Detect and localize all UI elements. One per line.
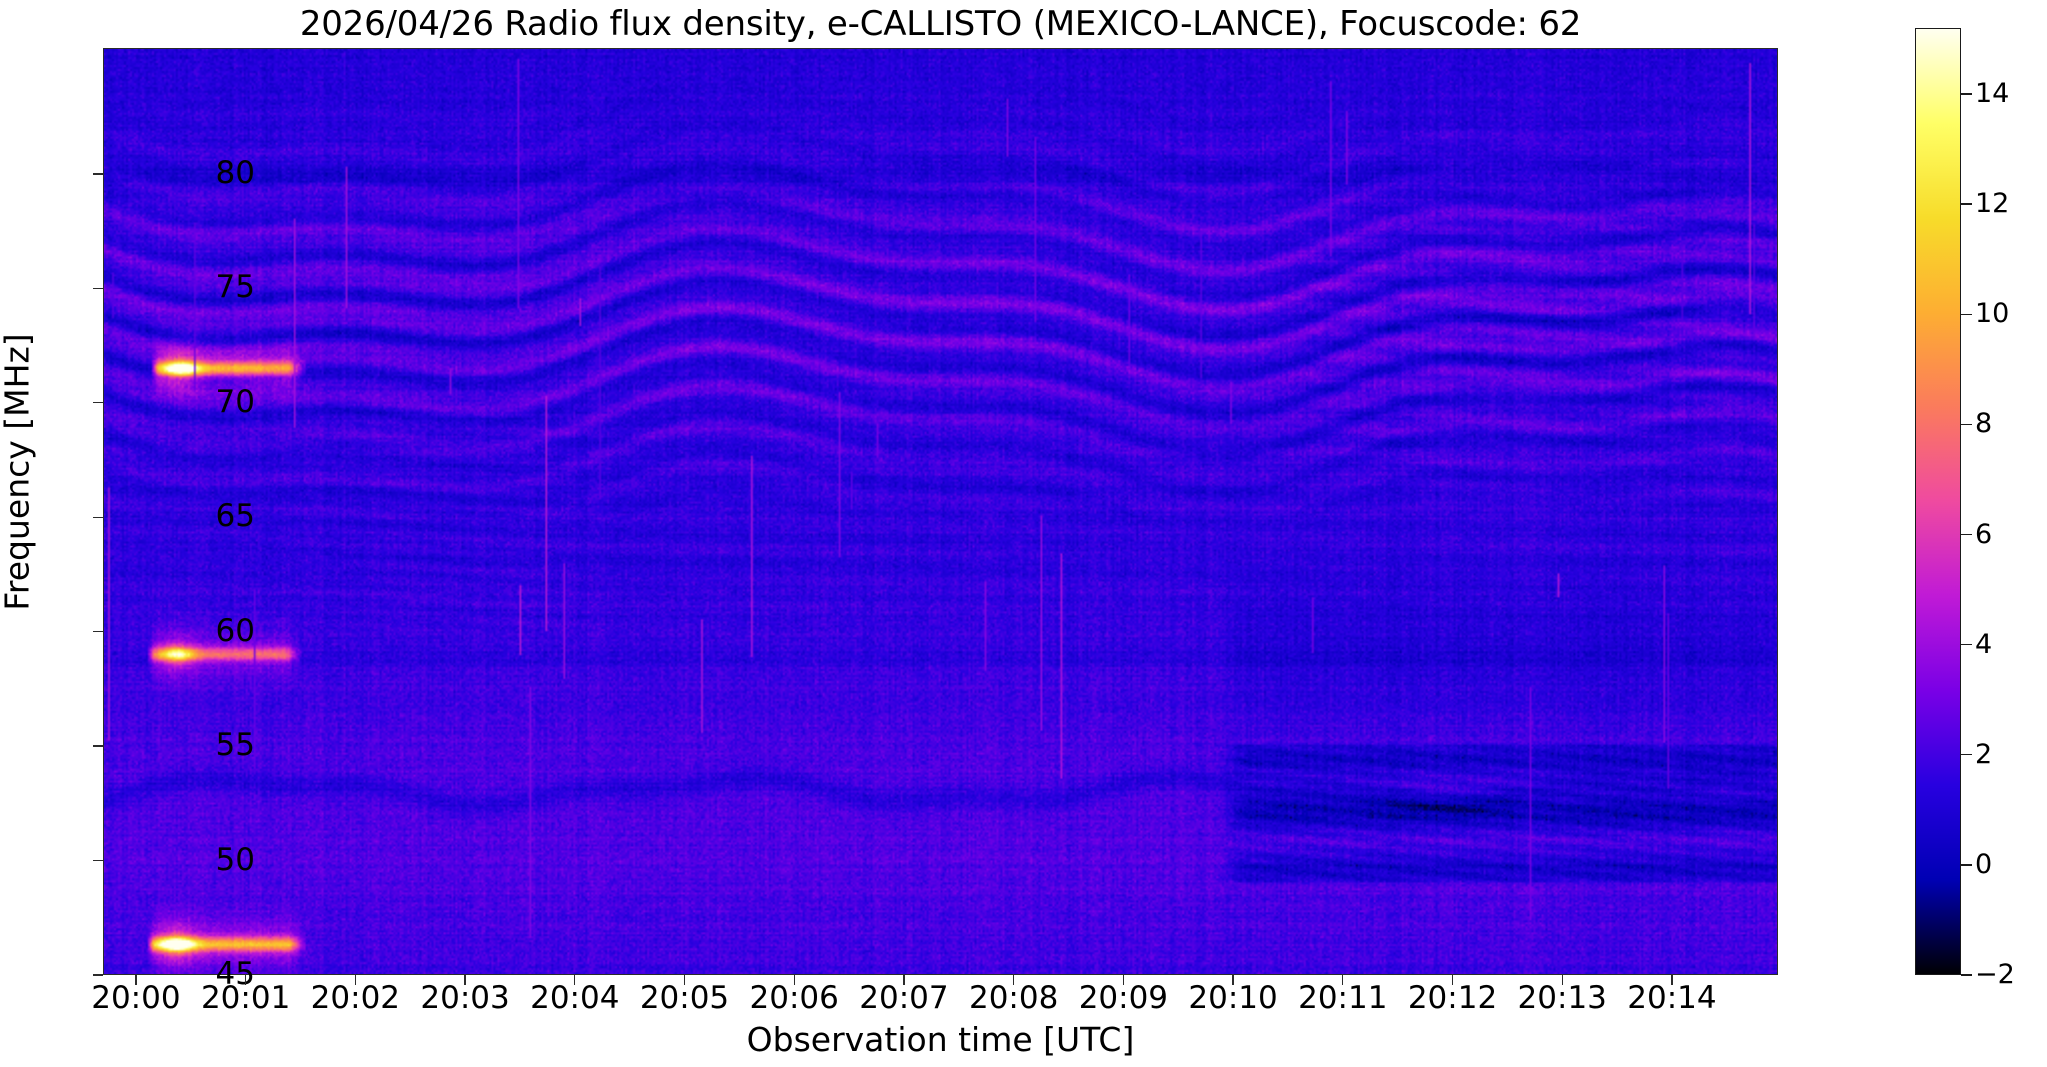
colorbar-tick-mark <box>1961 754 1972 755</box>
colorbar-tick-mark <box>1961 974 1972 975</box>
y-axis-label: Frequency [MHz] <box>0 9 38 936</box>
colorbar-tick-mark <box>1961 424 1972 425</box>
spectrogram-figure: 2026/04/26 Radio flux density, e-CALLIST… <box>0 0 2047 1067</box>
y-axis-tick-mark <box>93 745 103 746</box>
colorbar-tick-mark <box>1961 644 1972 645</box>
x-axis-tick-mark <box>794 975 795 985</box>
colorbar-tick-mark <box>1961 314 1972 315</box>
x-axis-tick-mark <box>135 975 136 985</box>
y-axis-tick-mark <box>93 173 103 174</box>
y-axis-tick-mark <box>93 517 103 518</box>
colorbar-tick-label: 6 <box>1975 521 2047 548</box>
x-axis-tick-mark <box>684 975 685 985</box>
spectrogram-image <box>104 49 1777 974</box>
colorbar-tick-mark <box>1961 864 1972 865</box>
colorbar-tick-label: 0 <box>1975 851 2047 878</box>
colorbar-tick-mark <box>1961 93 1972 94</box>
x-axis-tick-mark <box>1123 975 1124 985</box>
x-axis-tick-mark <box>1232 975 1233 985</box>
colorbar-tick-label: 4 <box>1975 631 2047 658</box>
colorbar-tick-mark <box>1961 534 1972 535</box>
colorbar-tick-label: 2 <box>1975 741 2047 768</box>
colorbar-tick-label: 10 <box>1975 300 2047 327</box>
colorbar-tick-label: 12 <box>1975 190 2047 217</box>
colorbar-tick-mark <box>1961 203 1972 204</box>
y-axis-tick-mark <box>93 631 103 632</box>
colorbar-gradient <box>1916 29 1960 974</box>
x-axis-label: Observation time [UTC] <box>103 1018 1778 1062</box>
spectrogram-plot-area[interactable] <box>103 48 1778 975</box>
y-axis-tick-mark <box>93 288 103 289</box>
page-title: 2026/04/26 Radio flux density, e-CALLIST… <box>103 4 1778 44</box>
x-axis-tick-mark <box>574 975 575 985</box>
x-axis-tick-mark <box>245 975 246 985</box>
x-axis-tick-mark <box>1562 975 1563 985</box>
colorbar <box>1915 28 1961 975</box>
colorbar-tick-label: 14 <box>1975 80 2047 107</box>
y-axis-tick-mark <box>93 402 103 403</box>
x-axis-tick-mark <box>1452 975 1453 985</box>
x-axis-tick-mark <box>903 975 904 985</box>
y-axis-tick-mark <box>93 974 103 975</box>
colorbar-tick-label: 8 <box>1975 410 2047 437</box>
x-axis-tick-mark <box>1671 975 1672 985</box>
y-axis-tick-mark <box>93 860 103 861</box>
colorbar-tick-label: −2 <box>1975 961 2047 988</box>
x-axis-tick-mark <box>1342 975 1343 985</box>
x-axis-tick-mark <box>355 975 356 985</box>
x-axis-tick-mark <box>464 975 465 985</box>
x-axis-tick-label: 20:14 <box>1572 980 1772 1016</box>
x-axis-tick-mark <box>1013 975 1014 985</box>
